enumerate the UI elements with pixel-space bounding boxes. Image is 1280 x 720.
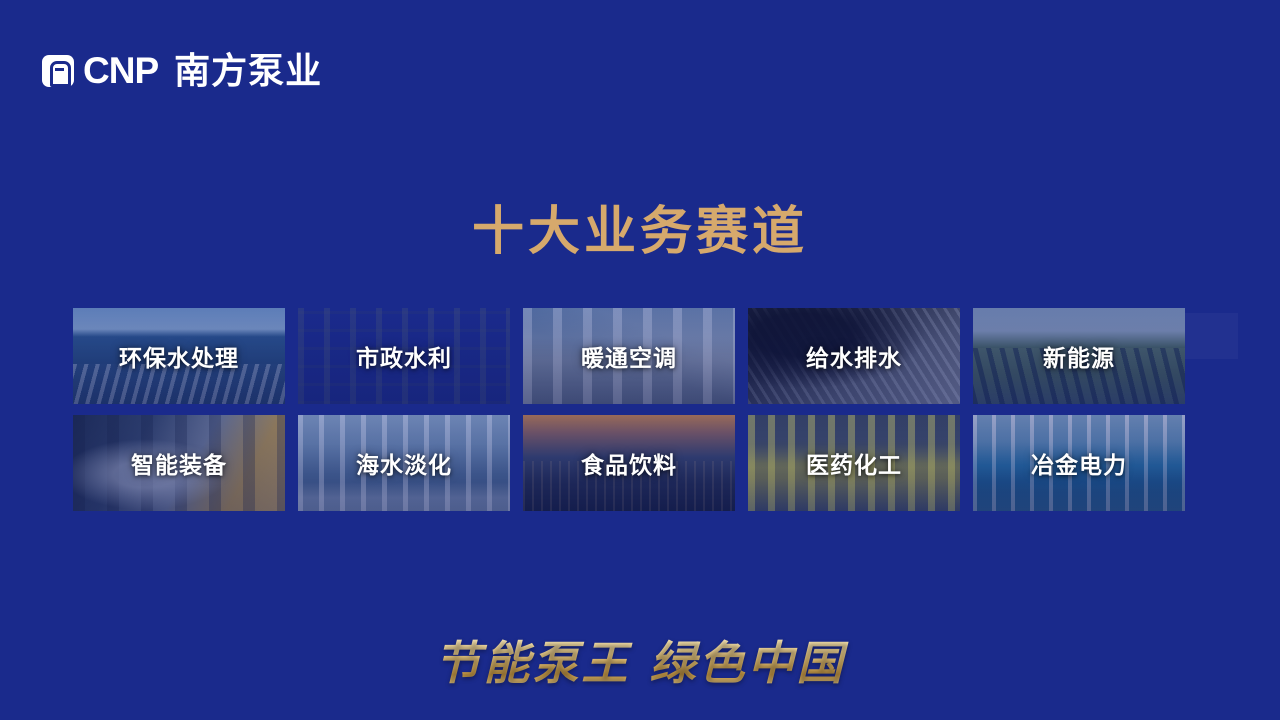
brand-logo: CNP 南方泵业 <box>42 52 322 89</box>
card-intelligent-equipment[interactable]: 智能装备 <box>73 415 285 511</box>
cnp-pump-logo-mark-icon <box>42 55 74 87</box>
card-water-supply-drainage[interactable]: 给水排水 <box>748 308 960 404</box>
card-municipal-water[interactable]: 市政水利 <box>298 308 510 404</box>
card-label: 食品饮料 <box>523 415 735 511</box>
card-label: 给水排水 <box>748 308 960 404</box>
card-new-energy[interactable]: 新能源 <box>973 308 1185 404</box>
business-tracks-row-1: 环保水处理 市政水利 暖通空调 给水排水 新能源 <box>73 308 1209 404</box>
page-title: 十大业务赛道 <box>0 206 1280 258</box>
presentation-slide: CNP 南方泵业 十大业务赛道 环保水处理 市政水利 暖通空调 <box>0 0 1280 720</box>
card-label: 暖通空调 <box>523 308 735 404</box>
logo-chinese-text: 南方泵业 <box>174 53 322 89</box>
business-tracks-grid: 环保水处理 市政水利 暖通空调 给水排水 新能源 <box>73 308 1209 511</box>
card-environmental-water-treatment[interactable]: 环保水处理 <box>73 308 285 404</box>
card-label: 环保水处理 <box>73 308 285 404</box>
card-label: 医药化工 <box>748 415 960 511</box>
card-label: 新能源 <box>973 308 1185 404</box>
logo-latin-text: CNP <box>83 52 158 89</box>
card-pharma-chemical[interactable]: 医药化工 <box>748 415 960 511</box>
decorative-panel <box>1185 313 1238 359</box>
card-label: 市政水利 <box>298 308 510 404</box>
card-hvac[interactable]: 暖通空调 <box>523 308 735 404</box>
card-seawater-desalination[interactable]: 海水淡化 <box>298 415 510 511</box>
card-metallurgy-power[interactable]: 冶金电力 <box>973 415 1185 511</box>
card-label: 冶金电力 <box>973 415 1185 511</box>
business-tracks-row-2: 智能装备 海水淡化 食品饮料 医药化工 冶金电力 <box>73 415 1209 511</box>
card-food-beverage[interactable]: 食品饮料 <box>523 415 735 511</box>
footer-slogan: 节能泵王 绿色中国 <box>0 636 1280 691</box>
card-label: 智能装备 <box>73 415 285 511</box>
card-label: 海水淡化 <box>298 415 510 511</box>
